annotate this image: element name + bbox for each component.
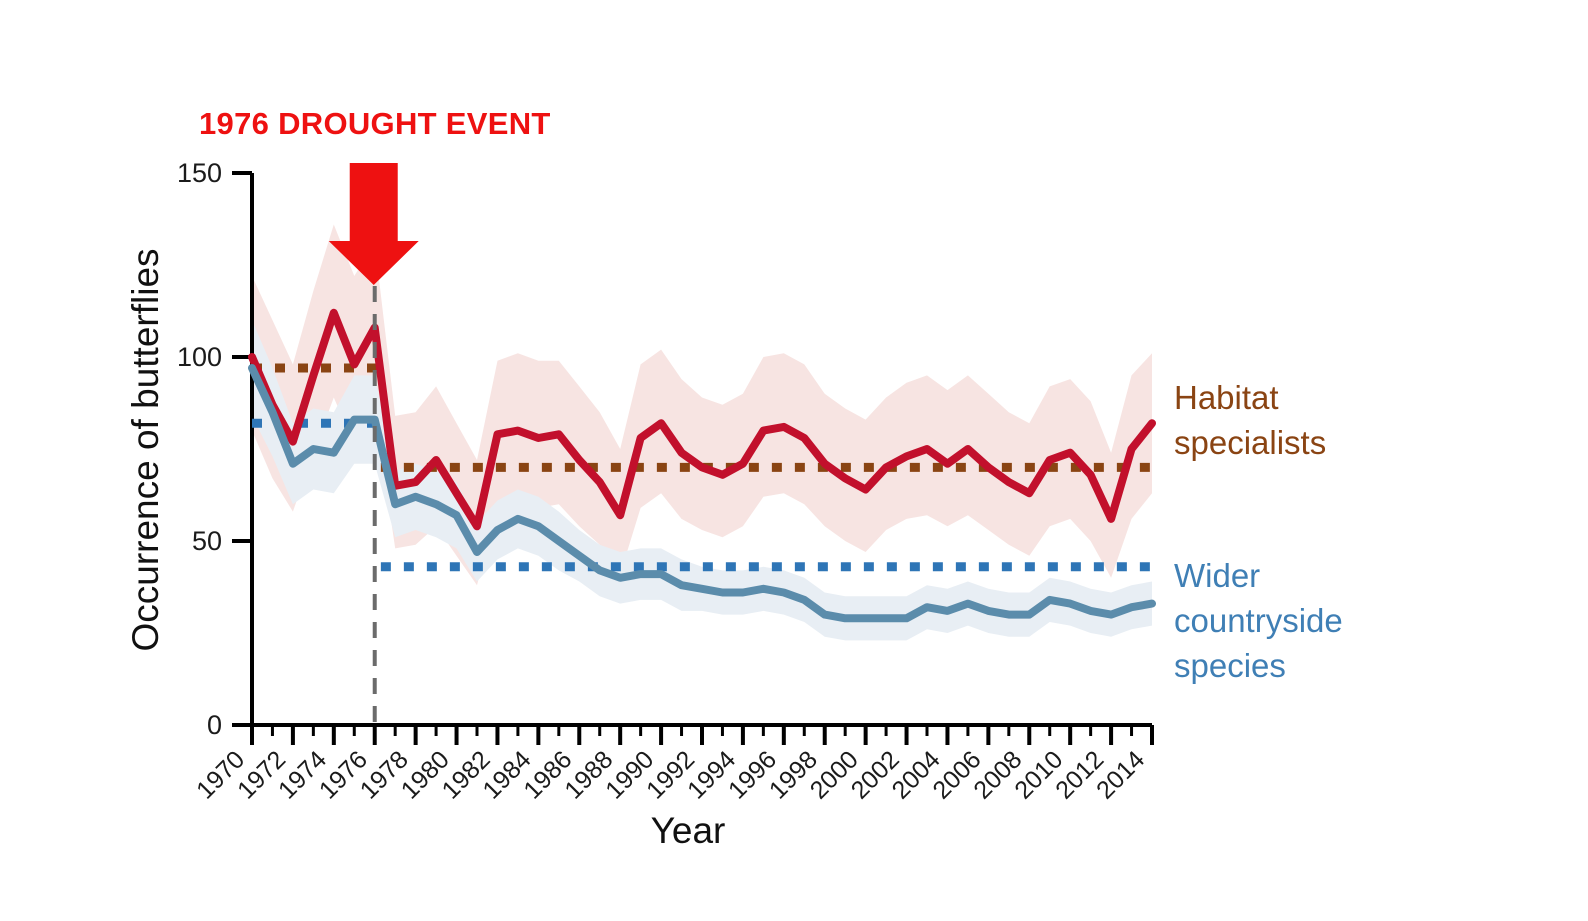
- legend-wider-countryside-line3: species: [1174, 647, 1286, 684]
- legend-wider-countryside-line2: countryside: [1174, 602, 1343, 639]
- y-axis-title: Occurrence of butterflies: [125, 248, 166, 651]
- legend: Habitat specialists Wider countryside sp…: [1174, 379, 1343, 684]
- x-axis-tick-labels: 1970197219741976197819801982198419861988…: [191, 745, 1150, 804]
- x-axis-tick-label: 2014: [1091, 745, 1150, 804]
- y-axis-tick-labels: 050100150: [177, 158, 222, 740]
- legend-habitat-specialists-line1: Habitat: [1174, 379, 1279, 416]
- y-axis-tick-label: 150: [177, 158, 222, 188]
- legend-wider-countryside-line1: Wider: [1174, 557, 1260, 594]
- butterfly-occurrence-chart: 050100150 197019721974197619781980198219…: [0, 0, 1588, 921]
- x-axis-title: Year: [651, 810, 726, 851]
- legend-habitat-specialists-line2: specialists: [1174, 424, 1326, 461]
- x-axis-ticks: [252, 725, 1152, 745]
- drought-event-label: 1976 DROUGHT EVENT: [199, 106, 551, 141]
- y-axis-tick-label: 50: [192, 526, 222, 556]
- y-axis-tick-label: 100: [177, 342, 222, 372]
- chart-canvas: 050100150 197019721974197619781980198219…: [0, 0, 1588, 921]
- y-axis-tick-label: 0: [207, 710, 222, 740]
- y-axis-ticks: [232, 173, 252, 725]
